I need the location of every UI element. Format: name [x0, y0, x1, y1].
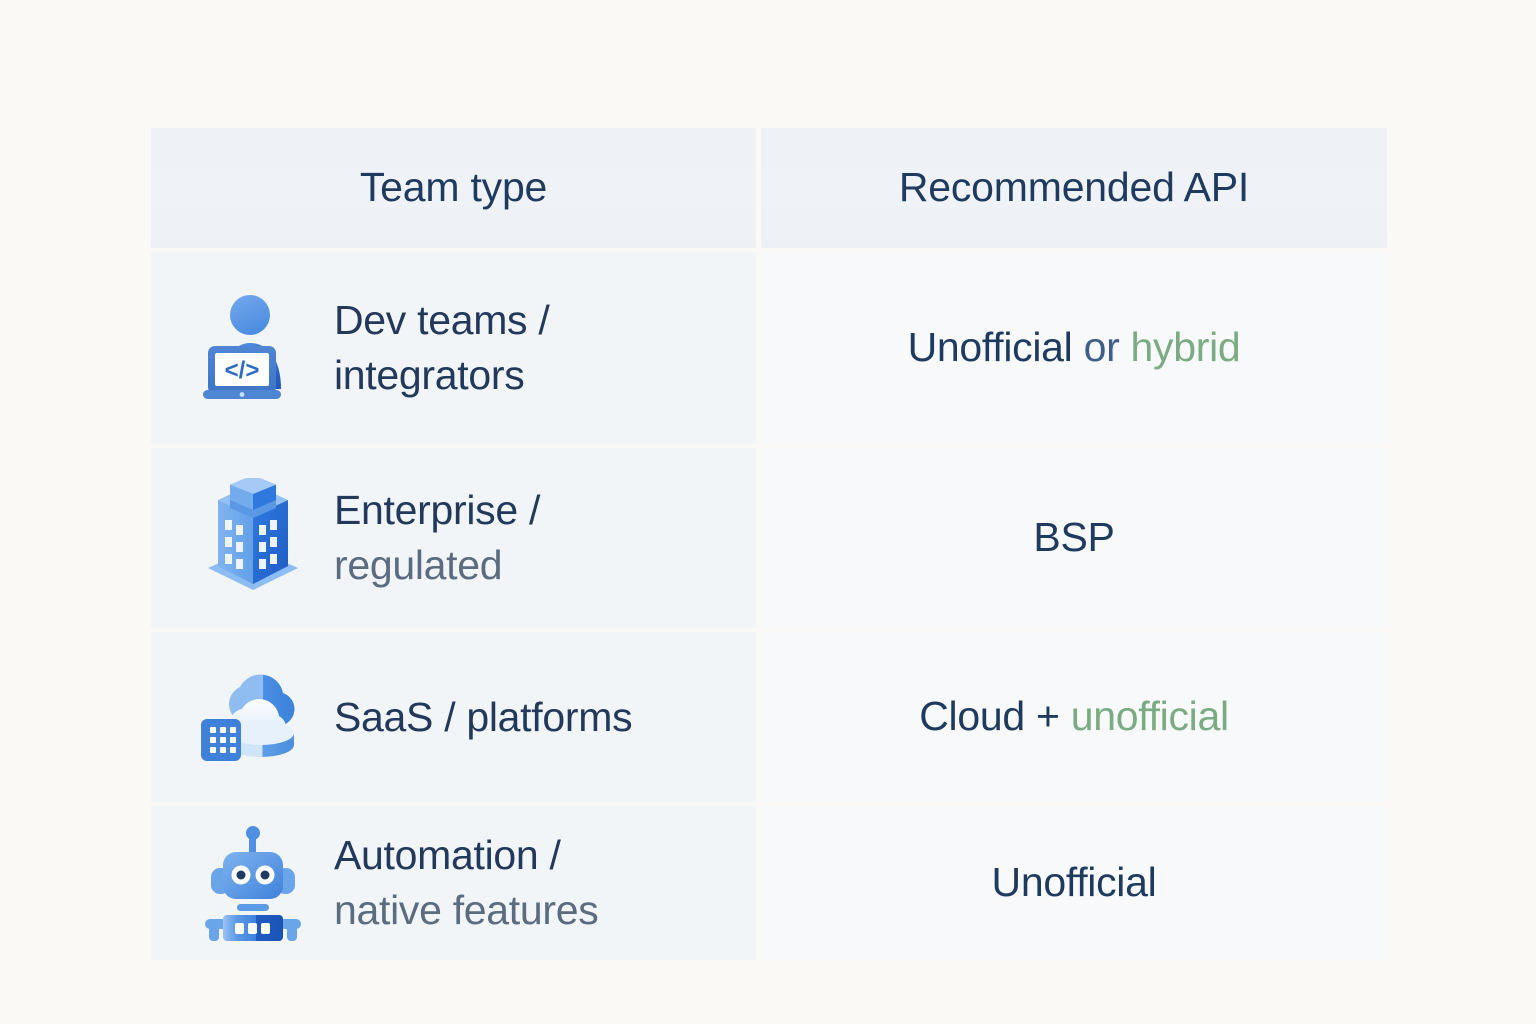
team-type-label: SaaS / platforms [334, 690, 632, 745]
api-segment-conjunction: or [1072, 324, 1130, 370]
recommended-api-table: Team type Recommended API [151, 128, 1387, 944]
api-segment-accent: unofficial [1071, 693, 1229, 739]
team-type-line-1: Automation / [334, 832, 561, 878]
table-row: Automation / native features [151, 806, 756, 960]
comparison-table-wrapper: Team type Recommended API [151, 128, 1387, 944]
recommended-api-value: Cloud + unofficial [919, 692, 1229, 741]
team-type-line-1: Enterprise / [334, 487, 540, 533]
table-row: SaaS / platforms [151, 632, 756, 802]
api-segment-primary: Unofficial [992, 859, 1157, 905]
team-type-label: Dev teams / integrators [334, 293, 549, 402]
robot-automation-icon [198, 823, 308, 943]
api-segment-primary: BSP [1033, 514, 1114, 560]
svg-text:</>: </> [225, 357, 260, 384]
table-header-team-type: Team type [151, 128, 756, 248]
team-type-line-1: SaaS / platforms [334, 694, 632, 740]
team-type-label: Automation / native features [334, 828, 598, 937]
table-row: Enterprise / regulated [151, 448, 756, 628]
recommended-api-cell: Unofficial [761, 806, 1387, 960]
team-type-line-2: integrators [334, 352, 524, 398]
recommended-api-value: Unofficial [992, 858, 1157, 907]
developer-laptop-icon: </> [198, 288, 308, 408]
recommended-api-value: Unofficial or hybrid [908, 323, 1241, 372]
header-label-recommended-api: Recommended API [899, 165, 1249, 210]
header-label-team-type: Team type [360, 165, 547, 210]
api-segment-primary: Cloud + [919, 693, 1070, 739]
table-row: </> Dev teams / integrators [151, 252, 756, 444]
recommended-api-cell: Cloud + unofficial [761, 632, 1387, 802]
team-type-line-2: native features [334, 887, 598, 933]
api-segment-accent: hybrid [1131, 324, 1241, 370]
office-building-icon [198, 478, 308, 598]
api-segment-primary: Unofficial [908, 324, 1073, 370]
recommended-api-cell: Unofficial or hybrid [761, 252, 1387, 444]
team-type-label: Enterprise / regulated [334, 483, 540, 592]
team-type-line-1: Dev teams / [334, 297, 549, 343]
recommended-api-value: BSP [1033, 513, 1114, 562]
recommended-api-cell: BSP [761, 448, 1387, 628]
team-type-line-2: regulated [334, 542, 502, 588]
cloud-platform-icon [198, 657, 308, 777]
table-header-recommended-api: Recommended API [761, 128, 1387, 248]
